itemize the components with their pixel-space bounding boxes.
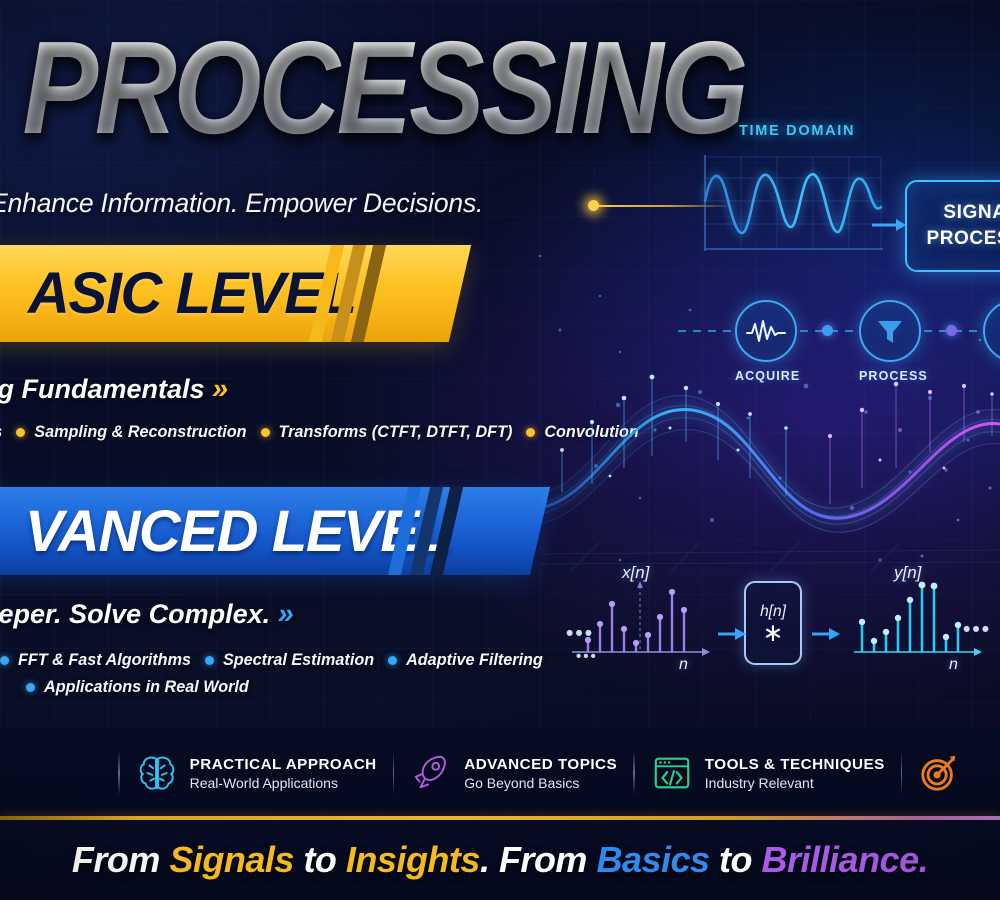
- flow-arrow-icon: [872, 217, 906, 233]
- list-item-label: FFT & Fast Algorithms: [18, 651, 191, 670]
- pipeline-connector: [678, 330, 732, 332]
- list-item-label: Applications in Real World: [44, 678, 249, 697]
- page-tagline: aning. Enhance Information. Empower Deci…: [0, 188, 483, 219]
- list-item: Applications in Real World: [12, 678, 249, 697]
- bullet-dot-icon: [261, 428, 270, 437]
- feature-core-concepts[interactable]: TS tals: [0, 756, 118, 791]
- feature-subtitle: Industry Relevant: [705, 775, 885, 791]
- feature-advanced-topics[interactable]: ADVANCED TOPICS Go Beyond Basics: [394, 752, 633, 794]
- advanced-subtitle-text: Deeper. Solve Complex.: [0, 599, 270, 629]
- bullet-dot-icon: [205, 656, 214, 665]
- footer-seg-3: to: [294, 839, 346, 880]
- pipeline-step-acquire: ACQUIRE: [735, 300, 800, 383]
- footer-seg-5: . From: [480, 839, 597, 880]
- advanced-level-subtitle: Deeper. Solve Complex. »: [0, 598, 290, 631]
- list-item: Transforms (CTFT, DTFT, DFT): [247, 423, 513, 442]
- feature-goal-target[interactable]: [902, 752, 988, 794]
- basic-subtitle-text: rong Fundamentals: [0, 374, 205, 404]
- footer-word-insights: Insights: [346, 839, 480, 880]
- basic-level-banner: ASIC LEVEL: [0, 245, 471, 342]
- signal-wave-graphic: [540, 372, 1000, 572]
- feature-title: TOOLS & TECHNIQUES: [705, 756, 885, 773]
- footer-word-signals: Signals: [169, 839, 294, 880]
- pipeline-node-dot: [822, 325, 833, 336]
- signal-processing-box: SIGNA PROCESS: [905, 180, 1000, 272]
- time-domain-label: TIME DOMAIN: [739, 123, 855, 139]
- feature-practical-approach[interactable]: PRACTICAL APPROACH Real-World Applicatio…: [120, 752, 393, 794]
- feature-bar: TS tals PRACTICAL APPROACH Real-World Ap…: [0, 727, 1000, 819]
- time-domain-oscilloscope: [697, 145, 887, 260]
- convolution-arrow-2: [812, 628, 840, 640]
- feature-subtitle: Real-World Applications: [190, 775, 377, 791]
- pipeline-step-analyze: AN: [983, 300, 1000, 383]
- footer-word-brilliance: Brilliance: [762, 839, 919, 880]
- waveform-icon: [735, 300, 797, 362]
- footer-seg-9: .: [919, 839, 929, 880]
- footer-bar: From Signals to Insights. From Basics to…: [0, 820, 1000, 900]
- feature-title: ADVANCED TOPICS: [464, 756, 617, 773]
- bullet-dot-icon: [26, 683, 35, 692]
- list-item: Spectral Estimation: [191, 651, 374, 670]
- output-stem-plot: [854, 582, 982, 656]
- footer-tagline: From Signals to Insights. From Basics to…: [72, 839, 928, 881]
- advanced-level-banner: VANCED LEVEL: [0, 487, 550, 575]
- list-item: FFT & Fast Algorithms: [0, 651, 191, 670]
- advanced-level-bullet-list-row1: FFT & Fast Algorithms Spectral Estimatio…: [0, 651, 543, 670]
- basic-level-subtitle: rong Fundamentals »: [0, 373, 224, 406]
- pipeline-step-process: PROCESS: [859, 300, 928, 383]
- footer-seg-7: to: [710, 839, 762, 880]
- signal-processing-line1: SIGNA: [943, 200, 1000, 226]
- advanced-level-label: VANCED LEVEL: [0, 498, 452, 565]
- pipeline-node-dot: [946, 325, 957, 336]
- footer-word-basics: Basics: [596, 839, 709, 880]
- rocket-icon: [410, 752, 452, 794]
- bullet-dot-icon: [16, 428, 25, 437]
- convolution-arrow-1: [718, 628, 746, 640]
- list-item-label: Sampling & Reconstruction: [34, 423, 246, 442]
- chevron-right-icon: »: [278, 598, 290, 630]
- bullet-dot-icon: [0, 656, 9, 665]
- target-icon: [918, 752, 960, 794]
- footer-seg-1: From: [72, 839, 170, 880]
- signal-processing-line2: PROCESS: [926, 226, 1000, 252]
- analyze-icon: [983, 300, 1000, 362]
- advanced-level-bullet-list-row2: Applications in Real World: [12, 678, 249, 697]
- funnel-icon: [859, 300, 921, 362]
- list-item: Sampling & Reconstruction: [2, 423, 246, 442]
- input-stem-plot: [572, 581, 710, 656]
- page-title: AL PROCESSING: [0, 22, 745, 154]
- feature-subtitle: Go Beyond Basics: [464, 775, 617, 791]
- feature-title: PRACTICAL APPROACH: [190, 756, 377, 773]
- list-item: Adaptive Filtering: [374, 651, 543, 670]
- brain-icon: [136, 752, 178, 794]
- convolution-diagram: [556, 552, 1000, 686]
- code-window-icon: [651, 752, 693, 794]
- bullet-dot-icon: [526, 428, 535, 437]
- chevron-right-icon: »: [212, 373, 224, 405]
- list-item-label: Spectral Estimation: [223, 651, 374, 670]
- list-item-label: Transforms (CTFT, DTFT, DFT): [279, 423, 513, 442]
- list-item-label: Adaptive Filtering: [406, 651, 543, 670]
- bullet-dot-icon: [388, 656, 397, 665]
- poster-canvas: AL PROCESSING aning. Enhance Information…: [0, 0, 1000, 900]
- feature-tools-techniques[interactable]: TOOLS & TECHNIQUES Industry Relevant: [635, 752, 901, 794]
- basic-level-label: ASIC LEVEL: [0, 260, 356, 327]
